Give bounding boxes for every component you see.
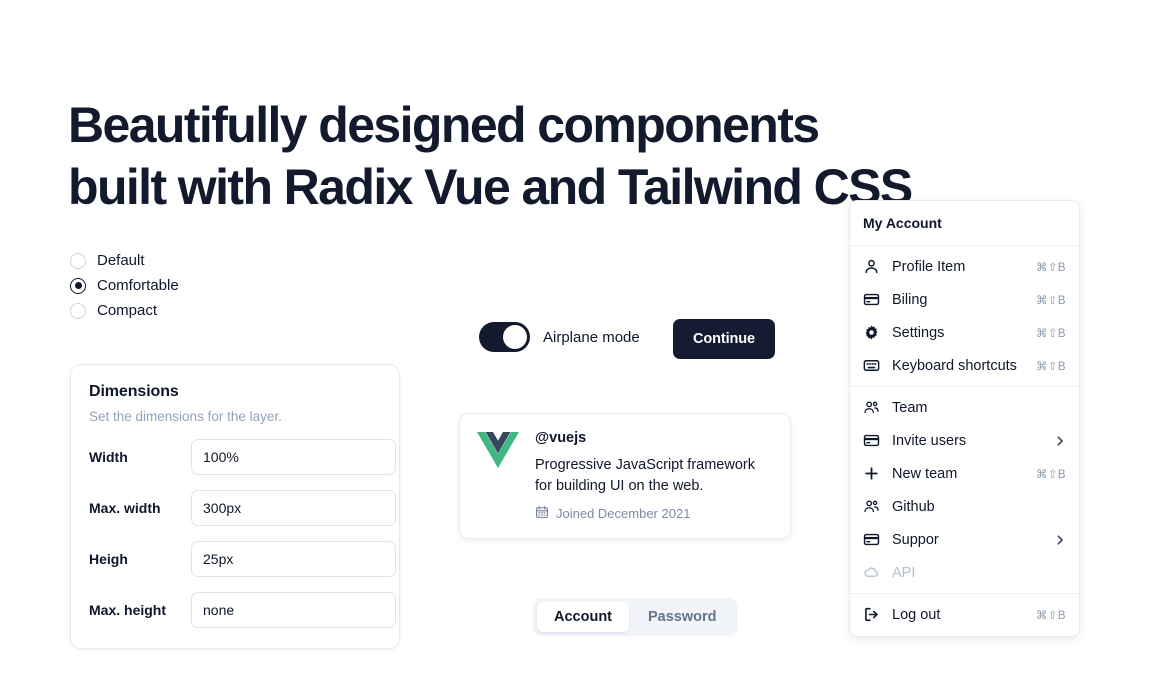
calendar-icon <box>535 505 549 522</box>
radio-indicator[interactable] <box>70 303 86 319</box>
menu-item-invite-users[interactable]: Invite users <box>850 424 1079 457</box>
menu-item-suppor[interactable]: Suppor <box>850 523 1079 556</box>
menu-item-label: Keyboard shortcuts <box>892 358 1036 374</box>
menu-item-shortcut: ⌘⇧B <box>1036 359 1066 373</box>
airplane-mode-switch[interactable] <box>479 322 530 352</box>
menu-item-shortcut: ⌘⇧B <box>1036 326 1066 340</box>
radio-option-label: Compact <box>97 302 157 319</box>
dimension-input-max-width[interactable] <box>191 490 396 526</box>
menu-item-label: New team <box>892 466 1036 482</box>
user-icon <box>863 258 880 275</box>
plus-icon <box>863 465 880 482</box>
hover-card-handle: @vuejs <box>535 430 773 446</box>
menu-item-shortcut: ⌘⇧B <box>1036 467 1066 481</box>
dimension-label-width: Width <box>89 449 191 465</box>
credit-card-icon <box>863 291 880 308</box>
menu-header-label: My Account <box>850 206 1079 241</box>
credit-card-icon <box>863 432 880 449</box>
menu-item-label: Team <box>892 400 1066 416</box>
radio-indicator[interactable] <box>70 278 86 294</box>
hover-card-joined-row: Joined December 2021 <box>535 505 773 522</box>
continue-button[interactable]: Continue <box>673 319 775 359</box>
dimension-field-row: Width <box>89 439 381 475</box>
switch-knob <box>503 325 527 349</box>
radio-indicator[interactable] <box>70 253 86 269</box>
vuejs-hover-card: @vuejs Progressive JavaScript framework … <box>459 413 791 539</box>
density-radio-group: DefaultComfortableCompact <box>70 248 300 323</box>
radio-option-compact[interactable]: Compact <box>70 298 300 323</box>
menu-item-label: Log out <box>892 607 1036 623</box>
menu-item-keyboard-shortcuts[interactable]: Keyboard shortcuts⌘⇧B <box>850 349 1079 382</box>
menu-separator <box>850 386 1079 387</box>
dimension-label-max-width: Max. width <box>89 500 191 516</box>
menu-item-label: Settings <box>892 325 1036 341</box>
dimensions-card: Dimensions Set the dimensions for the la… <box>70 364 400 649</box>
radio-option-default[interactable]: Default <box>70 248 300 273</box>
dimension-label-heigh: Heigh <box>89 551 191 567</box>
tab-account[interactable]: Account <box>537 602 629 632</box>
page-title: Beautifully designed components built wi… <box>68 94 1028 218</box>
menu-item-github[interactable]: Github <box>850 490 1079 523</box>
menu-item-label: Invite users <box>892 433 1054 449</box>
hover-card-description: Progressive JavaScript framework for bui… <box>535 455 773 497</box>
menu-item-shortcut: ⌘⇧B <box>1036 260 1066 274</box>
dimension-field-row: Max. height <box>89 592 381 628</box>
menu-item-label: API <box>892 565 1066 581</box>
dimension-field-row: Max. width <box>89 490 381 526</box>
airplane-mode-row: Airplane mode <box>479 322 640 352</box>
settings-tabs: AccountPassword <box>533 598 738 636</box>
account-dropdown-menu: My Account Profile Item⌘⇧BBiling⌘⇧BSetti… <box>849 200 1080 637</box>
radio-option-label: Default <box>97 252 145 269</box>
menu-item-label: Profile Item <box>892 259 1036 275</box>
radio-option-label: Comfortable <box>97 277 179 294</box>
menu-item-settings[interactable]: Settings⌘⇧B <box>850 316 1079 349</box>
menu-item-team[interactable]: Team <box>850 391 1079 424</box>
dimensions-card-description: Set the dimensions for the layer. <box>89 409 381 424</box>
gear-icon <box>863 324 880 341</box>
menu-item-api: API <box>850 556 1079 589</box>
menu-item-shortcut: ⌘⇧B <box>1036 608 1066 622</box>
menu-item-label: Suppor <box>892 532 1054 548</box>
menu-item-new-team[interactable]: New team⌘⇧B <box>850 457 1079 490</box>
menu-item-biling[interactable]: Biling⌘⇧B <box>850 283 1079 316</box>
cloud-icon <box>863 564 880 581</box>
radio-option-comfortable[interactable]: Comfortable <box>70 273 300 298</box>
dimension-input-heigh[interactable] <box>191 541 396 577</box>
dimensions-card-title: Dimensions <box>89 383 381 401</box>
menu-separator <box>850 593 1079 594</box>
menu-item-shortcut: ⌘⇧B <box>1036 293 1066 307</box>
users-icon <box>863 399 880 416</box>
dimension-label-max-height: Max. height <box>89 602 191 618</box>
chevron-right-icon <box>1054 435 1066 447</box>
logout-icon <box>863 606 880 623</box>
keyboard-icon <box>863 357 880 374</box>
page-title-line-1: Beautifully designed components <box>68 94 1028 156</box>
dimension-field-row: Heigh <box>89 541 381 577</box>
menu-item-label: Biling <box>892 292 1036 308</box>
dimensions-field-list: WidthMax. widthHeighMax. height <box>89 439 381 628</box>
menu-item-profile-item[interactable]: Profile Item⌘⇧B <box>850 250 1079 283</box>
credit-card-icon <box>863 531 880 548</box>
dimension-input-max-height[interactable] <box>191 592 396 628</box>
vue-logo-icon <box>477 432 519 472</box>
menu-item-log-out[interactable]: Log out⌘⇧B <box>850 598 1079 631</box>
menu-separator <box>850 245 1079 246</box>
dimension-input-width[interactable] <box>191 439 396 475</box>
hover-card-body: @vuejs Progressive JavaScript framework … <box>535 430 773 522</box>
hover-card-joined-text: Joined December 2021 <box>556 506 690 521</box>
airplane-mode-label: Airplane mode <box>543 329 640 346</box>
tab-password[interactable]: Password <box>631 602 734 632</box>
chevron-right-icon <box>1054 534 1066 546</box>
users-icon <box>863 498 880 515</box>
menu-group-list: Profile Item⌘⇧BBiling⌘⇧BSettings⌘⇧BKeybo… <box>850 245 1079 631</box>
menu-item-label: Github <box>892 499 1066 515</box>
